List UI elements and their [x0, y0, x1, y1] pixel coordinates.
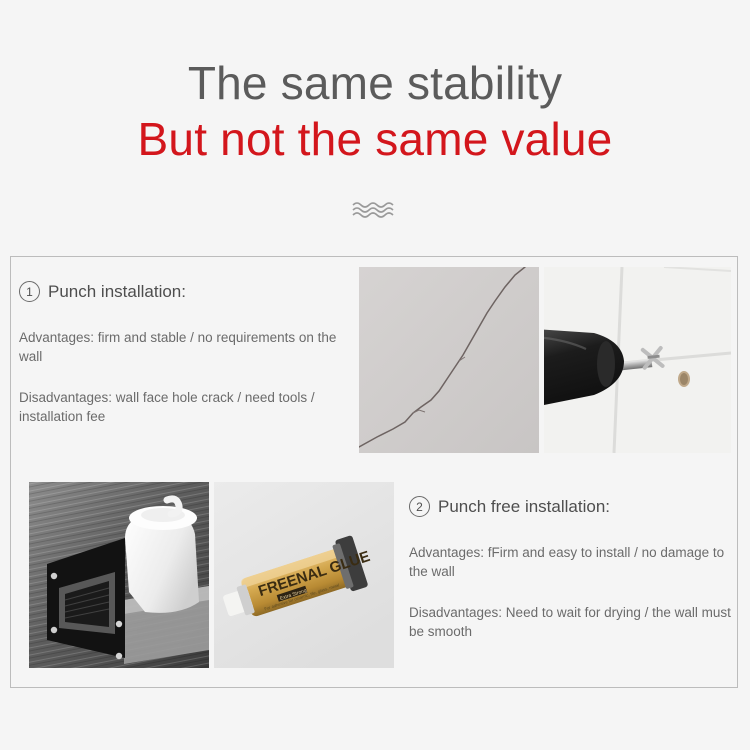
header: The same stability But not the same valu…: [0, 0, 750, 221]
section-punch-installation: 1 Punch installation: Advantages: firm a…: [11, 257, 737, 472]
section-1-text: 1 Punch installation: Advantages: firm a…: [19, 281, 359, 427]
step-number-badge: 1: [19, 281, 40, 302]
section-2-advantages: Advantages: fFirm and easy to install / …: [409, 543, 731, 581]
section-1-heading: 1 Punch installation:: [19, 281, 359, 302]
section-1-disadvantages: Disadvantages: wall face hole crack / ne…: [19, 388, 359, 426]
section-2-text: 2 Punch free installation: Advantages: f…: [409, 496, 731, 642]
section-2-heading: 2 Punch free installation:: [409, 496, 731, 517]
wave-divider: [0, 199, 750, 221]
black-bracket-holder-photo: [29, 482, 209, 668]
step-number-badge: 2: [409, 496, 430, 517]
section-punch-free-installation: FREENAL GLUE Extra Strong For adhesive f…: [11, 472, 737, 687]
page-title-primary: The same stability: [0, 58, 750, 110]
page-title-secondary: But not the same value: [0, 114, 750, 166]
drill-into-tile-photo: [544, 267, 731, 453]
cracked-wall-photo: [359, 267, 539, 453]
section-2-disadvantages: Disadvantages: Need to wait for drying /…: [409, 603, 731, 641]
wave-divider-icon: [351, 199, 399, 221]
comparison-panel: 1 Punch installation: Advantages: firm a…: [10, 256, 738, 688]
section-1-advantages: Advantages: firm and stable / no require…: [19, 328, 359, 366]
section-2-title: Punch free installation:: [438, 497, 610, 517]
glue-tube-photo: FREENAL GLUE Extra Strong For adhesive f…: [214, 482, 394, 668]
section-1-title: Punch installation:: [48, 282, 186, 302]
